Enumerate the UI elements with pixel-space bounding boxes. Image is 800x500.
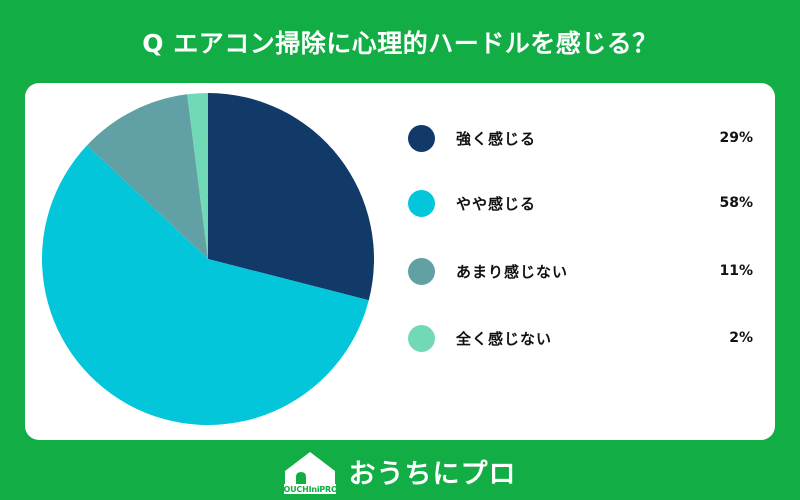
legend-item-value: 11% bbox=[719, 263, 753, 279]
logo-badge-text: OUCHIniPRO bbox=[284, 485, 336, 494]
legend-swatch-icon bbox=[408, 258, 435, 285]
legend-item-not-much[interactable]: あまり感じない 11% bbox=[408, 256, 753, 286]
legend-item-label: あまり感じない bbox=[456, 261, 719, 282]
legend-swatch-icon bbox=[408, 325, 435, 352]
legend-item-value: 58% bbox=[719, 195, 753, 211]
page-title-bar: Q エアコン掃除に心理的ハードルを感じる？ bbox=[0, 0, 800, 83]
pie-slice-group bbox=[42, 93, 374, 425]
legend-swatch-icon bbox=[408, 125, 435, 152]
brand-wordmark: おうちにプロ bbox=[349, 452, 517, 491]
legend-item-strongly-feel[interactable]: 強く感じる 29% bbox=[408, 123, 753, 153]
infographic-root: Q エアコン掃除に心理的ハードルを感じる？ 強く感じる 29% やや感じる 58… bbox=[0, 0, 800, 500]
chart-card: 強く感じる 29% やや感じる 58% あまり感じない 11% 全く感じない 2… bbox=[25, 83, 775, 440]
pie-chart-svg bbox=[42, 93, 374, 425]
house-logo-icon: OUCHIniPRO bbox=[284, 450, 336, 494]
legend-swatch-icon bbox=[408, 190, 435, 217]
legend-item-value: 29% bbox=[719, 130, 753, 146]
legend-item-label: やや感じる bbox=[456, 193, 719, 214]
legend-item-not-at-all[interactable]: 全く感じない 2% bbox=[408, 323, 753, 353]
legend-item-label: 全く感じない bbox=[456, 328, 729, 349]
legend-item-label: 強く感じる bbox=[456, 128, 719, 149]
page-title: Q エアコン掃除に心理的ハードルを感じる？ bbox=[142, 24, 657, 60]
chart-legend: 強く感じる 29% やや感じる 58% あまり感じない 11% 全く感じない 2… bbox=[408, 123, 753, 413]
legend-item-value: 2% bbox=[729, 330, 753, 346]
footer-brand[interactable]: OUCHIniPRO おうちにプロ bbox=[0, 443, 800, 500]
pie-chart bbox=[42, 93, 374, 425]
legend-item-somewhat-feel[interactable]: やや感じる 58% bbox=[408, 188, 753, 218]
